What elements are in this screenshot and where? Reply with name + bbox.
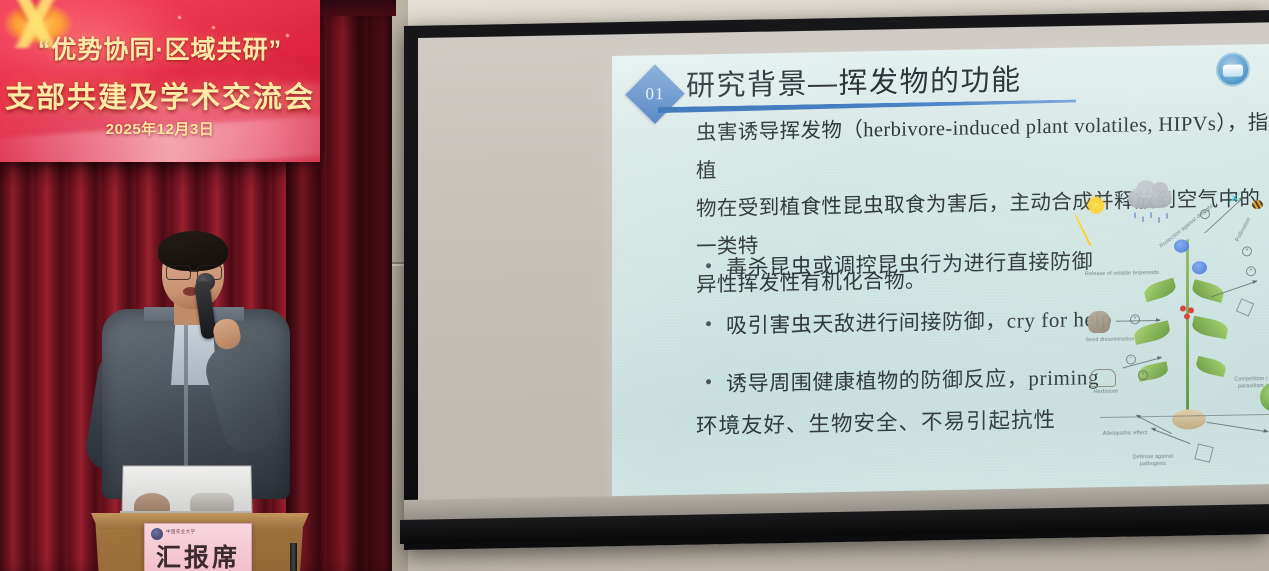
berry-icon bbox=[1188, 307, 1194, 313]
slide-bullet-list: 毒杀昆虫或调控昆虫行为进行直接防御 吸引害虫天敌进行间接防御，cry for h… bbox=[704, 244, 1134, 426]
bullet-item: 诱导周围健康植物的防御反应，priming bbox=[704, 360, 1134, 398]
diagram-label: Allelopathic effect bbox=[1094, 430, 1156, 438]
raindrop bbox=[1166, 213, 1168, 219]
molecule-icon bbox=[1194, 444, 1213, 463]
molecule-icon bbox=[1236, 298, 1254, 316]
flower-icon bbox=[1192, 261, 1207, 274]
raindrop bbox=[1134, 212, 1136, 218]
raindrop bbox=[1150, 212, 1152, 218]
diagram-arrow bbox=[1206, 422, 1267, 433]
bullet-item: 吸引害虫天敌进行间接防御，cry for help bbox=[704, 302, 1134, 340]
plant-stem bbox=[1186, 239, 1189, 415]
banner-date: 2025年12月3日 bbox=[0, 118, 320, 139]
banner-sparkle bbox=[212, 26, 215, 29]
speaker: 中国农业大学 汇报席 bbox=[86, 225, 316, 571]
banner-title-line-2: 支部共建及学术交流会 bbox=[0, 74, 320, 116]
podium-sign-subtext: 中国农业大学 bbox=[166, 529, 195, 535]
leaf-icon bbox=[1195, 356, 1228, 377]
diagram-label: Competition / parasitism bbox=[1222, 376, 1269, 391]
leaf-icon bbox=[1191, 316, 1230, 340]
diagram-arrow bbox=[1151, 428, 1190, 444]
sun-ray bbox=[1075, 215, 1092, 246]
plus-sign-icon: + bbox=[1242, 246, 1252, 256]
leaf-icon bbox=[1190, 279, 1225, 303]
caterpillar-icon bbox=[1090, 369, 1116, 387]
banner-title-line-1: “优势协同·区域共研” bbox=[0, 30, 320, 66]
sun-icon bbox=[1088, 197, 1104, 213]
slide-closing-line: 环境友好、生物安全、不易引起抗性 bbox=[696, 403, 1056, 441]
presentation-slide: 01 研究背景—挥发物的功能 虫害诱导挥发物（herbivore-induced… bbox=[612, 44, 1269, 506]
squirrel-icon bbox=[1088, 311, 1110, 333]
glasses-icon bbox=[166, 265, 222, 278]
leaf-icon bbox=[1142, 278, 1177, 303]
podium-sign-text: 汇报席 bbox=[145, 538, 251, 571]
plus-sign-icon: + bbox=[1246, 266, 1256, 276]
diagram-label: Herbivore bbox=[1082, 389, 1130, 397]
diagram-label: Release of volatile terpenoids bbox=[1080, 270, 1164, 279]
raindrop bbox=[1158, 217, 1160, 223]
microphone-stand bbox=[290, 543, 297, 571]
presentation-photo: “优势协同·区域共研” 支部共建及学术交流会 2025年12月3日 01 研究背… bbox=[0, 0, 1269, 571]
banner-sparkle bbox=[178, 16, 181, 19]
university-logo-icon bbox=[1216, 52, 1250, 87]
cloud-rain-icon bbox=[1128, 188, 1172, 209]
diagram-label: Seed dissemination bbox=[1078, 336, 1142, 344]
podium-sign: 中国农业大学 汇报席 bbox=[144, 523, 252, 571]
raindrop bbox=[1142, 216, 1144, 222]
event-banner: “优势协同·区域共研” 支部共建及学术交流会 2025年12月3日 bbox=[0, 0, 320, 162]
plus-sign-icon: + bbox=[1130, 314, 1140, 324]
glasses-bridge bbox=[189, 270, 199, 272]
diagram-label: Defense against pathogens bbox=[1120, 453, 1186, 468]
plant-volatile-functions-diagram: + − + + + + Release of volatile terpenoi… bbox=[1076, 176, 1269, 480]
slide-title: 研究背景—挥发物的功能 bbox=[686, 56, 1022, 104]
plant-root bbox=[1172, 409, 1206, 430]
